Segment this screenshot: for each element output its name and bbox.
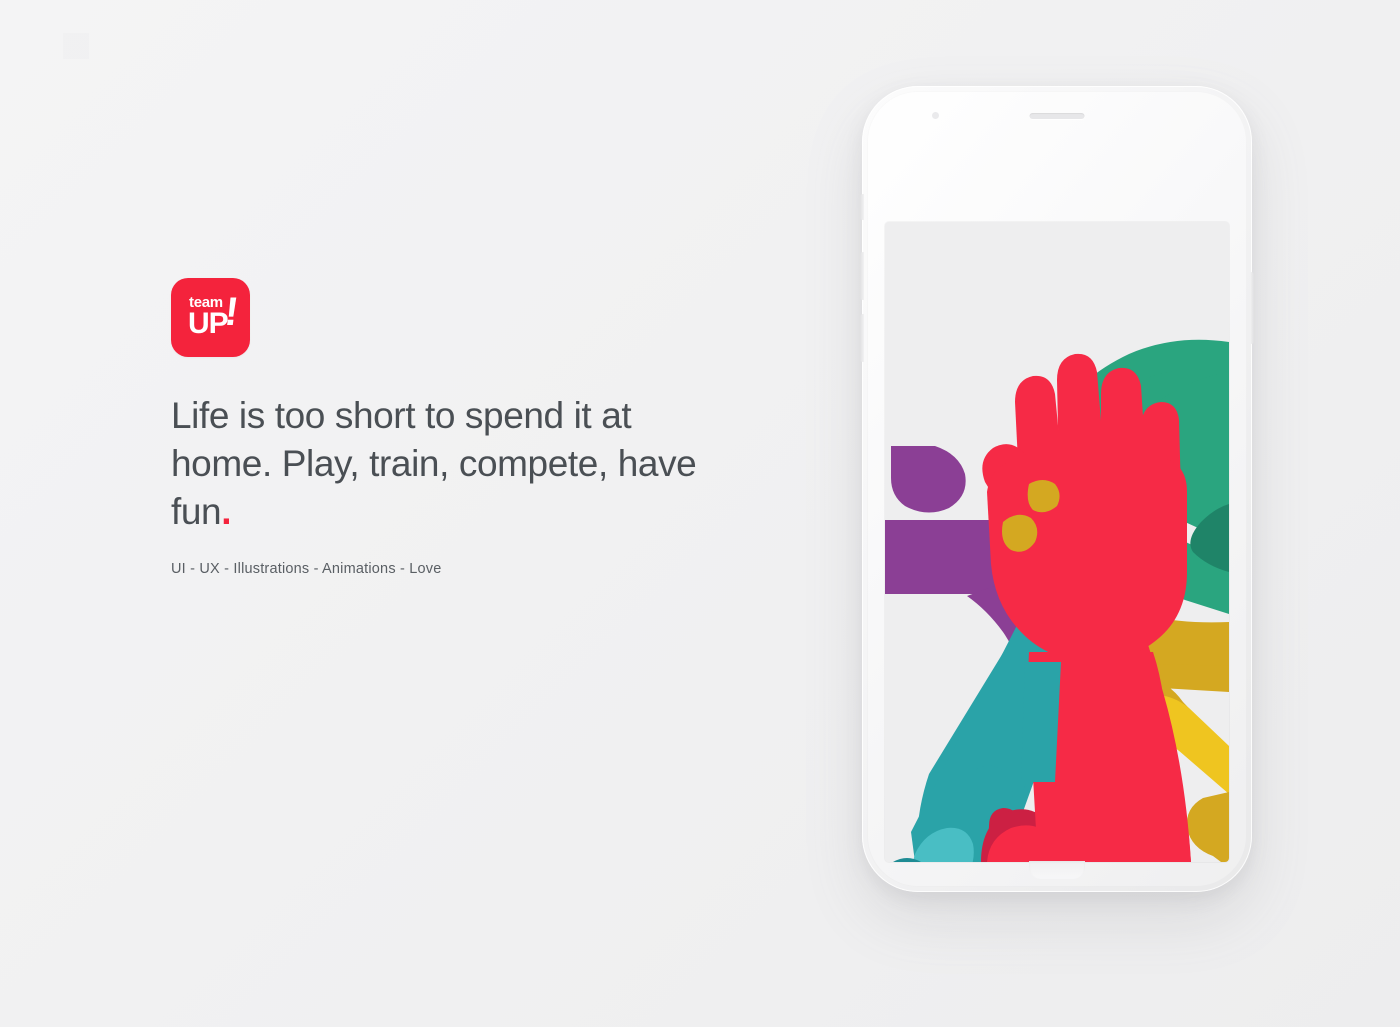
home-button[interactable] — [1029, 861, 1085, 879]
volume-up-button[interactable] — [860, 252, 864, 300]
teal-sliver-bottom-center — [1021, 662, 1061, 782]
earpiece-speaker-icon — [1030, 113, 1085, 119]
teamup-logo[interactable]: team UP ! — [171, 278, 250, 357]
front-camera-icon — [932, 112, 939, 119]
hero-subtitle: UI - UX - Illustrations - Animations - L… — [171, 561, 731, 577]
silent-switch-button[interactable] — [860, 194, 864, 220]
logo-exclamation-icon: ! — [223, 292, 241, 332]
headline-text: Life is too short to spend it at home. P… — [171, 395, 696, 532]
page-title: Life is too short to spend it at home. P… — [171, 392, 711, 536]
headline-accent-period: . — [221, 491, 231, 532]
yellow-glimpse-under-hand-2 — [1028, 480, 1060, 512]
logo-word-up: UP — [188, 309, 228, 339]
power-button[interactable] — [1250, 272, 1254, 344]
hero-content: team UP ! Life is too short to spend it … — [171, 278, 731, 577]
team-hands-illustration — [885, 222, 1229, 862]
volume-down-button[interactable] — [860, 314, 864, 362]
phone-mockup — [862, 86, 1252, 892]
corner-watermark — [63, 33, 89, 59]
phone-screen[interactable] — [885, 222, 1229, 862]
